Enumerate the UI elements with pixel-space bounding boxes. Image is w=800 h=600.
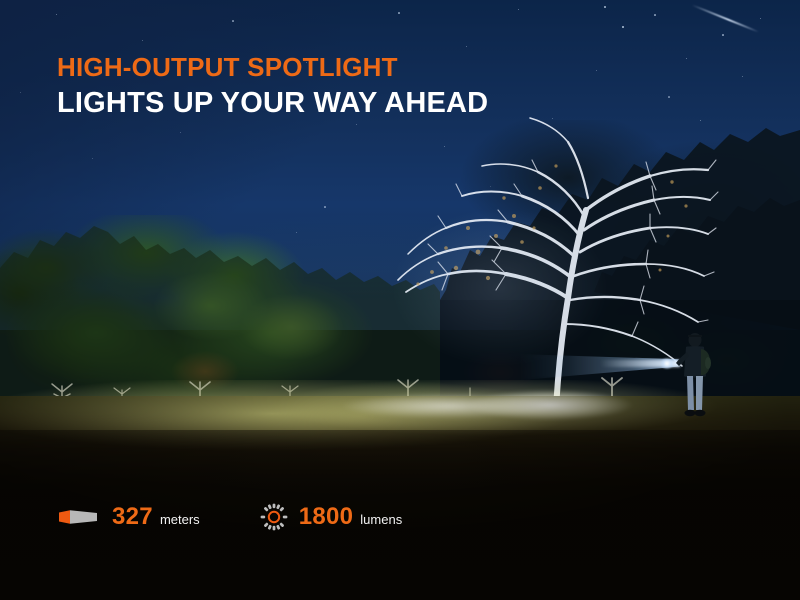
- headline-line-1: HIGH-OUTPUT SPOTLIGHT: [57, 52, 697, 83]
- ground-vignette: [0, 396, 800, 600]
- beam-distance-unit: meters: [160, 508, 200, 526]
- flashlight-beam-icon: [57, 507, 101, 527]
- stat-beam-distance: 327 meters: [57, 500, 200, 534]
- lumens-value: 1800: [299, 505, 354, 529]
- headline-block: HIGH-OUTPUT SPOTLIGHT LIGHTS UP YOUR WAY…: [57, 52, 697, 120]
- product-banner: HIGH-OUTPUT SPOTLIGHT LIGHTS UP YOUR WAY…: [0, 0, 800, 600]
- lumens-unit: lumens: [360, 508, 402, 526]
- stat-lumens: 1800 lumens: [260, 500, 403, 534]
- person-with-flashlight: [668, 332, 722, 420]
- brightness-sun-icon: [260, 503, 288, 531]
- beam-distance-value: 327: [112, 505, 153, 529]
- spec-stats-row: 327 meters: [57, 500, 402, 534]
- headline-line-2: LIGHTS UP YOUR WAY AHEAD: [57, 86, 697, 120]
